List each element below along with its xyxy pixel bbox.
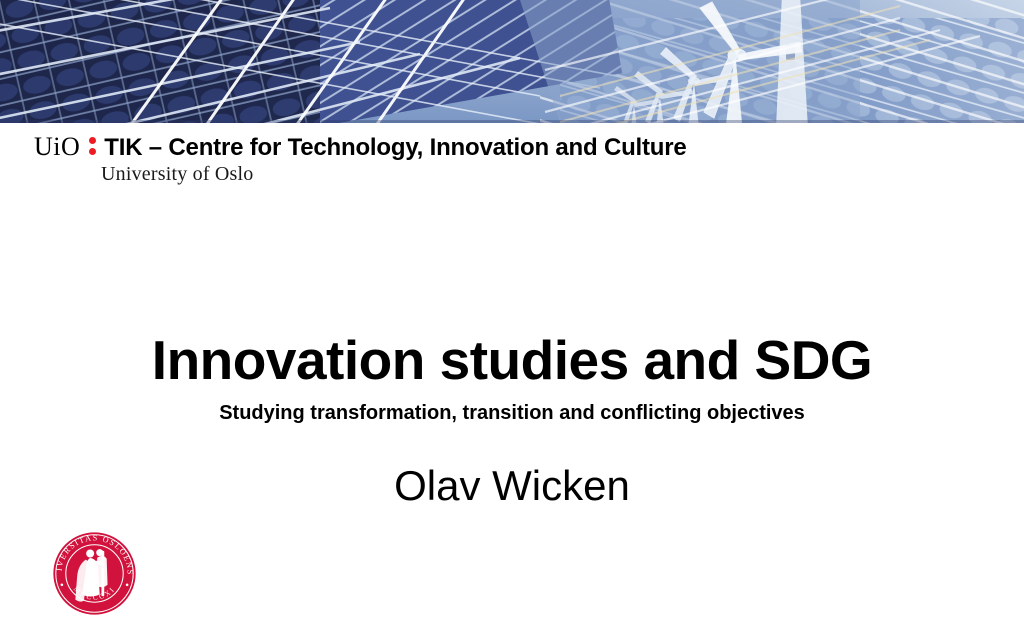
presentation-slide: UiO TIK – Centre for Technology, Innovat… [0,0,1024,640]
university-name: University of Oslo [101,164,687,184]
university-of-oslo-seal: UNIVERSITAS OSLOENSIS MDCCCXI [51,530,138,617]
header-banner-image [0,0,1024,123]
logo-primary-line: UiO TIK – Centre for Technology, Innovat… [34,134,687,160]
author-block: Olav Wicken [0,462,1024,510]
uio-tik-logo: UiO TIK – Centre for Technology, Innovat… [34,134,687,184]
page-title: Innovation studies and SDG [0,330,1024,390]
tik-unit-name: TIK – Centre for Technology, Innovation … [104,135,686,161]
author-name: Olav Wicken [0,462,1024,510]
two-red-dots-icon [85,136,101,158]
page-subtitle: Studying transformation, transition and … [0,400,1024,426]
uio-wordmark: UiO [34,134,80,160]
title-block: Innovation studies and SDG Studying tran… [0,330,1024,426]
